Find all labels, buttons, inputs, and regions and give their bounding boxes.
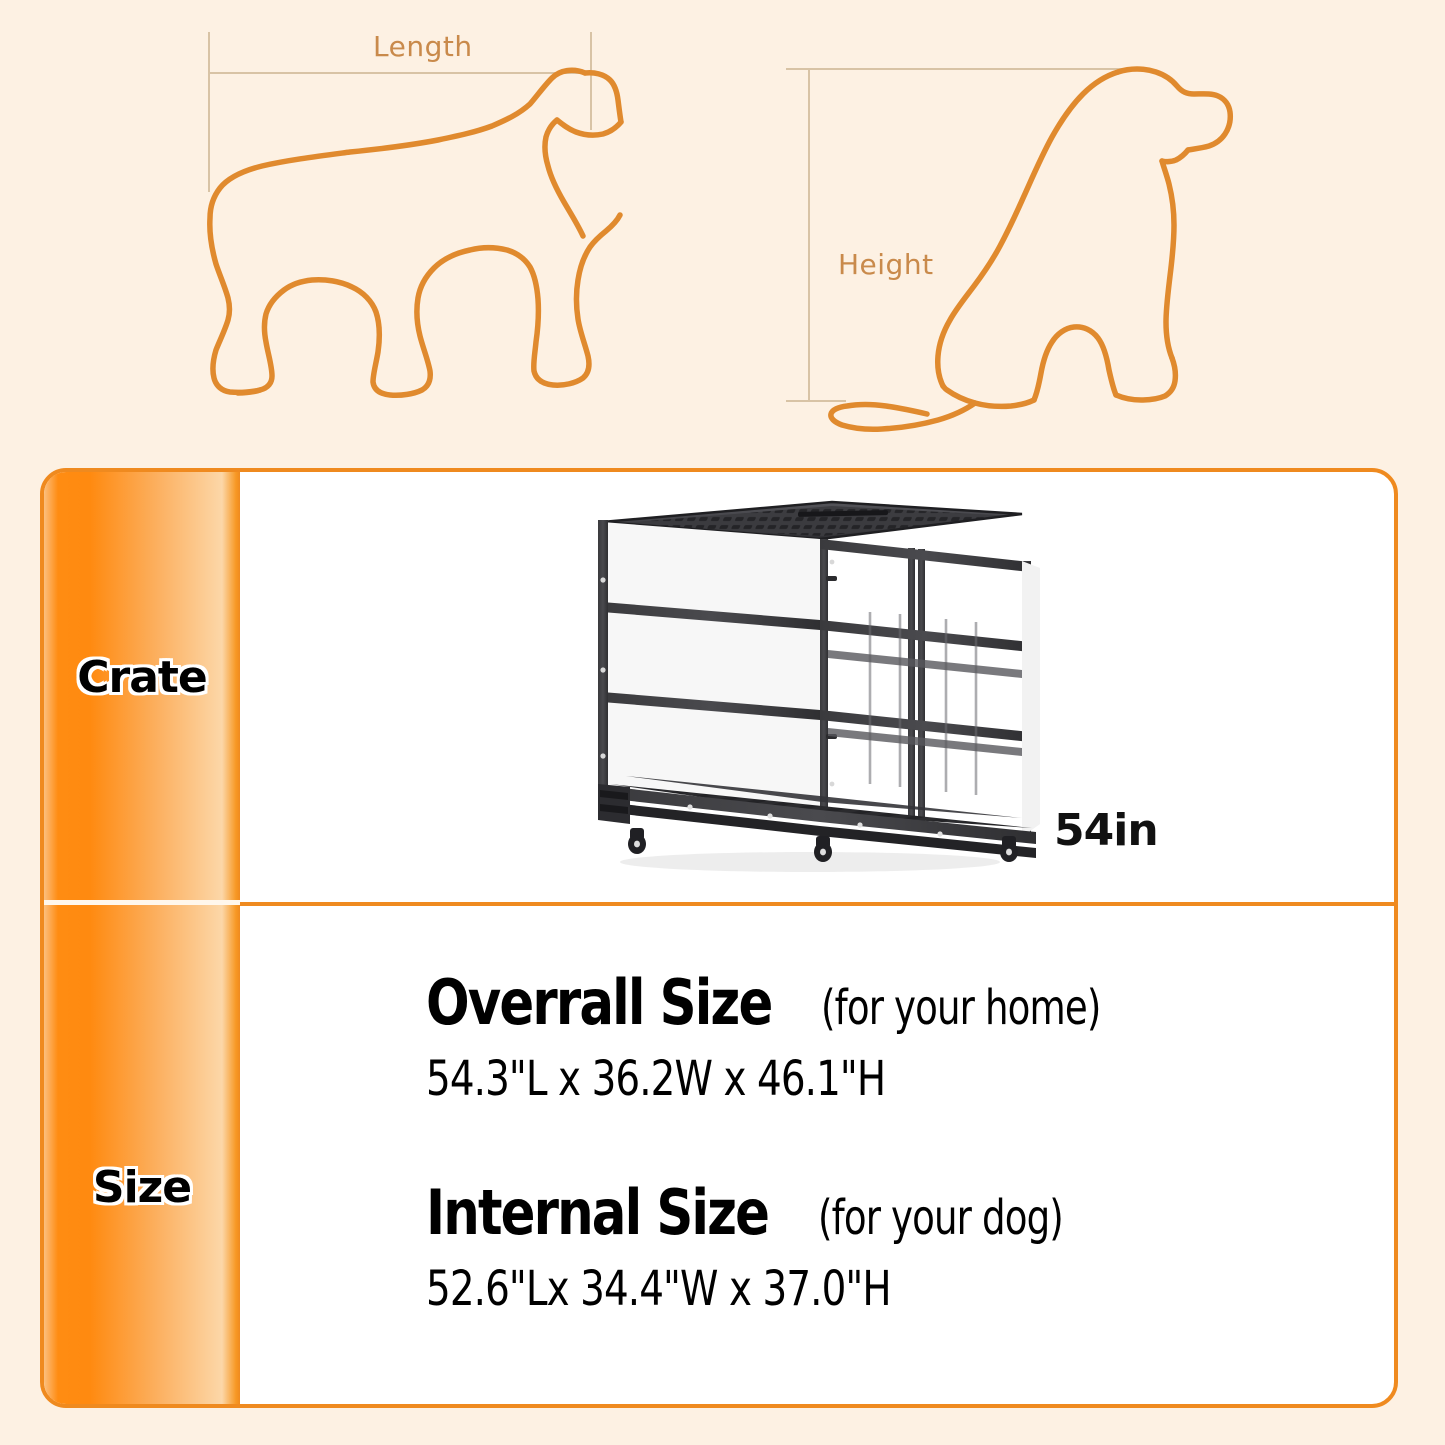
heavy-duty-dog-crate-icon (570, 484, 1040, 879)
internal-size-heading: Internal Size (426, 1176, 768, 1249)
overall-size-note: (for your home) (821, 980, 1100, 1036)
internal-size-block: Internal Size (for your dog) 52.6"Lx 34.… (426, 1176, 1103, 1317)
height-diagram: Height (780, 50, 1260, 450)
internal-size-note: (for your dog) (818, 1190, 1063, 1246)
overall-size-block: Overrall Size (for your home) 54.3"L x 3… (426, 966, 1146, 1107)
dog-measurement-diagram: Length Hei (0, 0, 1445, 462)
crate-measurement-label: 54in (1054, 805, 1158, 856)
sidebar-row-divider (44, 900, 240, 905)
length-label: Length (373, 30, 473, 63)
height-label: Height (838, 248, 934, 281)
overall-size-dimensions: 54.3"L x 36.2W x 46.1"H (426, 1051, 1074, 1107)
size-text-cell: Overrall Size (for your home) 54.3"L x 3… (240, 906, 1398, 1408)
internal-size-dimensions: 52.6"Lx 34.4"W x 37.0"H (426, 1261, 1035, 1317)
card-sidebar (44, 472, 240, 1404)
standing-dog-outline-icon (180, 10, 620, 420)
length-diagram: Length (180, 10, 620, 420)
row-label-crate: Crate (44, 652, 240, 703)
row-label-size: Size (44, 1162, 240, 1213)
crate-image-cell: 54in (240, 472, 1398, 902)
overall-size-heading: Overrall Size (426, 966, 771, 1039)
specification-card: Crate Size (40, 468, 1398, 1408)
dog-crate-photo (570, 484, 1040, 879)
